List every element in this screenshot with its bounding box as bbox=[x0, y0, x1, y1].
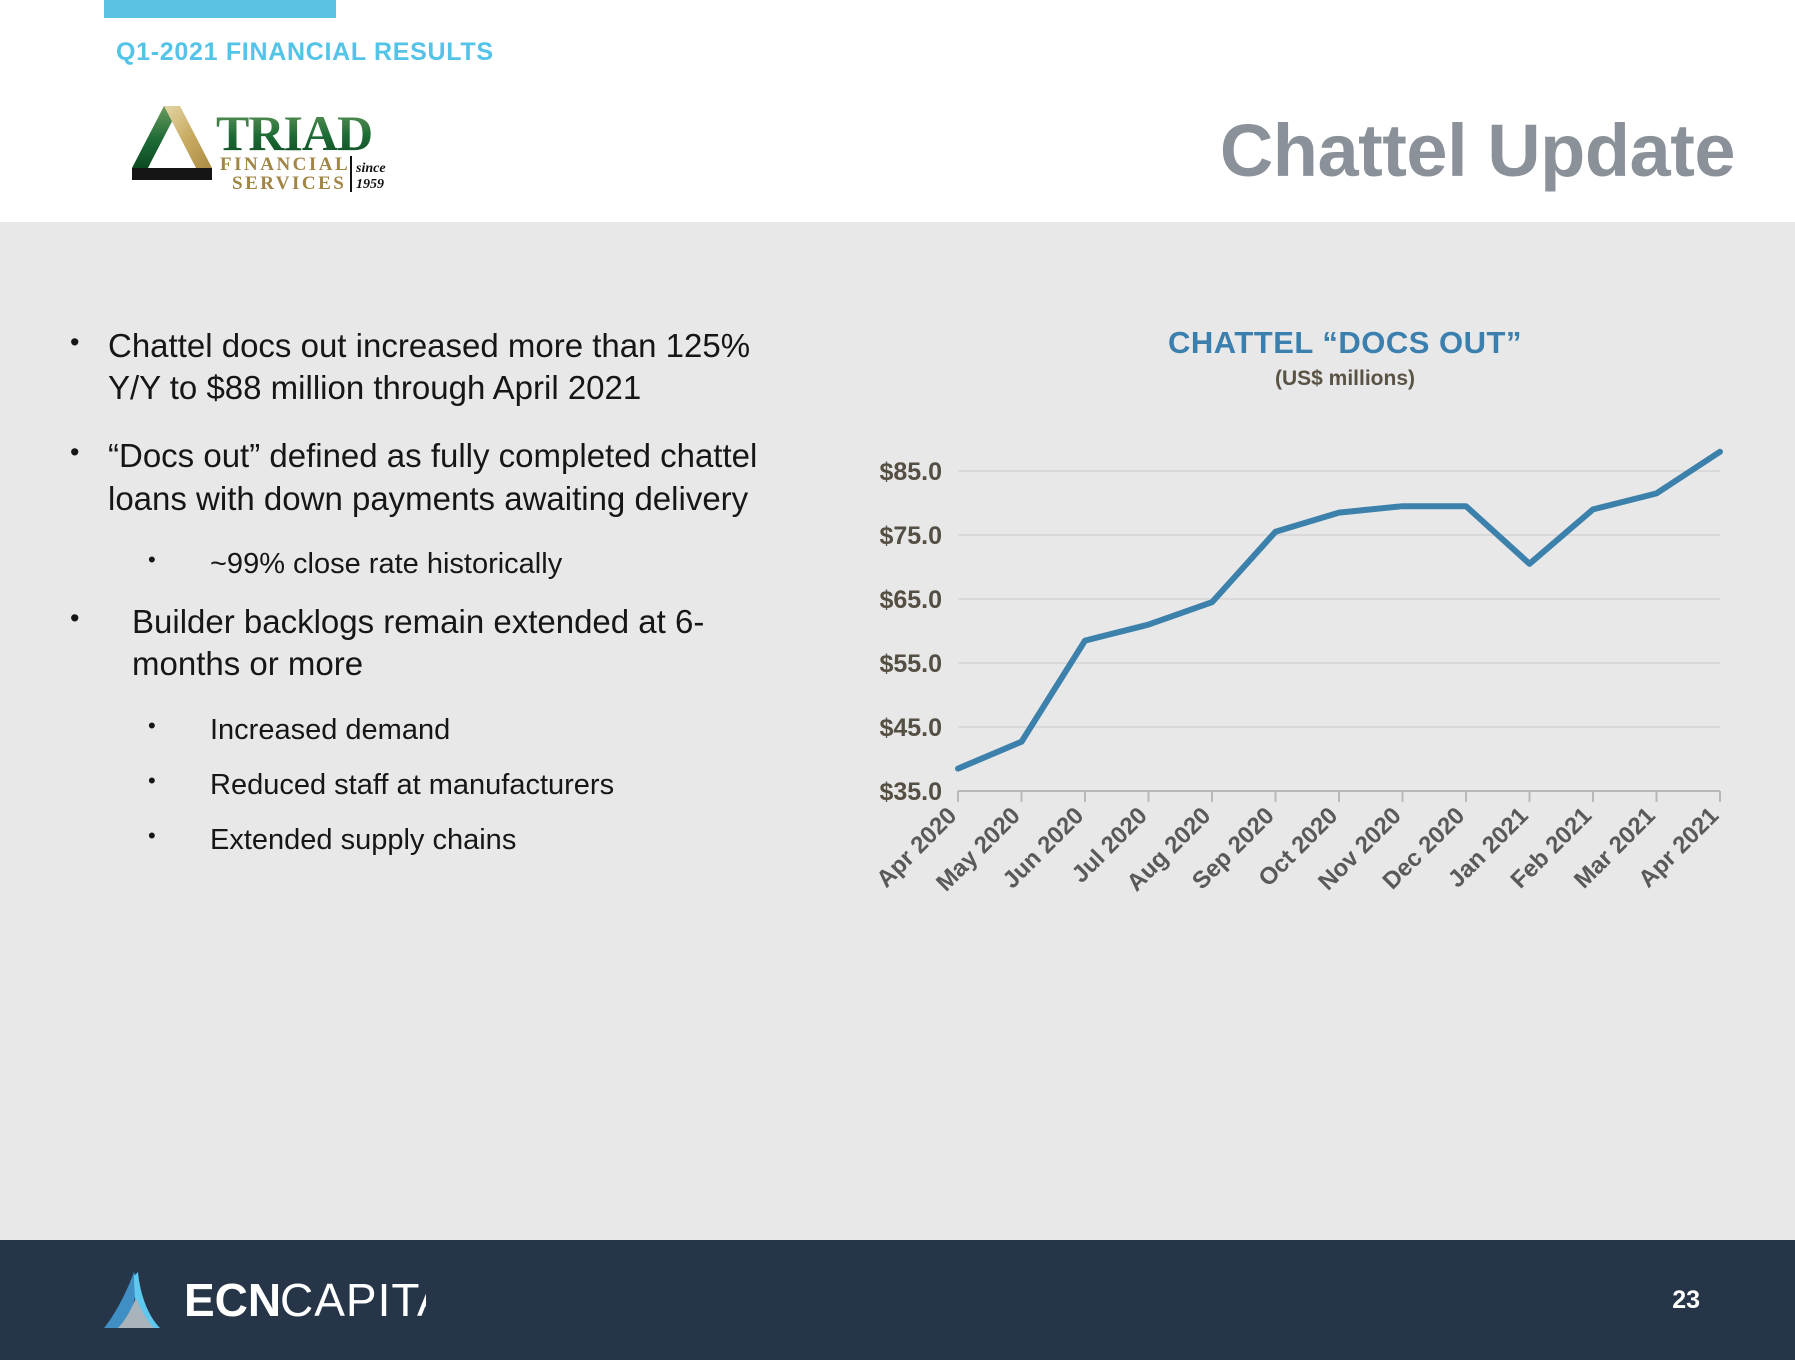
footer-bar: ECN CAPITAL 23 bbox=[0, 1240, 1795, 1360]
svg-text:TRIAD: TRIAD bbox=[216, 105, 372, 161]
svg-text:since: since bbox=[355, 161, 386, 176]
list-item: • ~99% close rate historically bbox=[62, 546, 762, 583]
ecn-brand-bold: ECN bbox=[184, 1274, 281, 1326]
chart-plot-area: $85.0$75.0$65.0$55.0$45.0$35.0Apr 2020Ma… bbox=[840, 421, 1740, 901]
list-item: • Chattel docs out increased more than 1… bbox=[62, 325, 762, 409]
list-item: • Extended supply chains bbox=[62, 822, 762, 859]
svg-text:SERVICES: SERVICES bbox=[232, 173, 346, 194]
bullet-text: “Docs out” defined as fully completed ch… bbox=[108, 435, 762, 519]
ecn-capital-logo: ECN CAPITAL bbox=[96, 1264, 426, 1336]
bullet-marker: • bbox=[62, 546, 210, 574]
bullet-text: Reduced staff at manufacturers bbox=[210, 767, 762, 804]
svg-text:1959: 1959 bbox=[356, 177, 384, 192]
y-axis-tick-label: $55.0 bbox=[879, 650, 942, 678]
list-item: • Builder backlogs remain extended at 6-… bbox=[62, 601, 762, 685]
accent-bar bbox=[104, 0, 336, 18]
bullet-marker: • bbox=[62, 822, 210, 850]
slide: Q1-2021 FINANCIAL RESULTS bbox=[0, 0, 1795, 1360]
page-title: Chattel Update bbox=[1220, 108, 1735, 193]
chart-subtitle: (US$ millions) bbox=[840, 367, 1740, 391]
bullet-marker: • bbox=[62, 435, 108, 470]
y-axis-tick-label: $85.0 bbox=[879, 458, 942, 486]
eyebrow-label: Q1-2021 FINANCIAL RESULTS bbox=[116, 38, 494, 67]
svg-text:FINANCIAL: FINANCIAL bbox=[220, 154, 350, 175]
header-band: Q1-2021 FINANCIAL RESULTS bbox=[0, 0, 1795, 222]
chart-title: CHATTEL “DOCS OUT” bbox=[840, 325, 1740, 361]
list-item: • Increased demand bbox=[62, 712, 762, 749]
bullet-list: • Chattel docs out increased more than 1… bbox=[62, 325, 762, 877]
page-number: 23 bbox=[1672, 1286, 1700, 1315]
y-axis-tick-label: $75.0 bbox=[879, 522, 942, 550]
bullet-text: Extended supply chains bbox=[210, 822, 762, 859]
list-item: • “Docs out” defined as fully completed … bbox=[62, 435, 762, 519]
svg-text:CAPITAL: CAPITAL bbox=[280, 1274, 426, 1326]
bullet-text: ~99% close rate historically bbox=[210, 546, 762, 583]
chart-series-line bbox=[958, 452, 1720, 769]
bullet-text: Chattel docs out increased more than 125… bbox=[108, 325, 762, 409]
bullet-marker: • bbox=[62, 767, 210, 795]
y-axis-tick-label: $45.0 bbox=[879, 714, 942, 742]
triad-financial-services-logo: TRIAD FINANCIAL SERVICES since 1959 bbox=[120, 100, 390, 195]
bullet-text: Builder backlogs remain extended at 6-mo… bbox=[132, 601, 762, 685]
y-axis-tick-label: $35.0 bbox=[879, 778, 942, 806]
bullet-text: Increased demand bbox=[210, 712, 762, 749]
y-axis-tick-label: $65.0 bbox=[879, 586, 942, 614]
bullet-marker: • bbox=[62, 712, 210, 740]
list-item: • Reduced staff at manufacturers bbox=[62, 767, 762, 804]
bullet-marker: • bbox=[62, 601, 132, 636]
chattel-docs-out-chart: CHATTEL “DOCS OUT” (US$ millions) $85.0$… bbox=[840, 315, 1740, 955]
bullet-marker: • bbox=[62, 325, 108, 360]
